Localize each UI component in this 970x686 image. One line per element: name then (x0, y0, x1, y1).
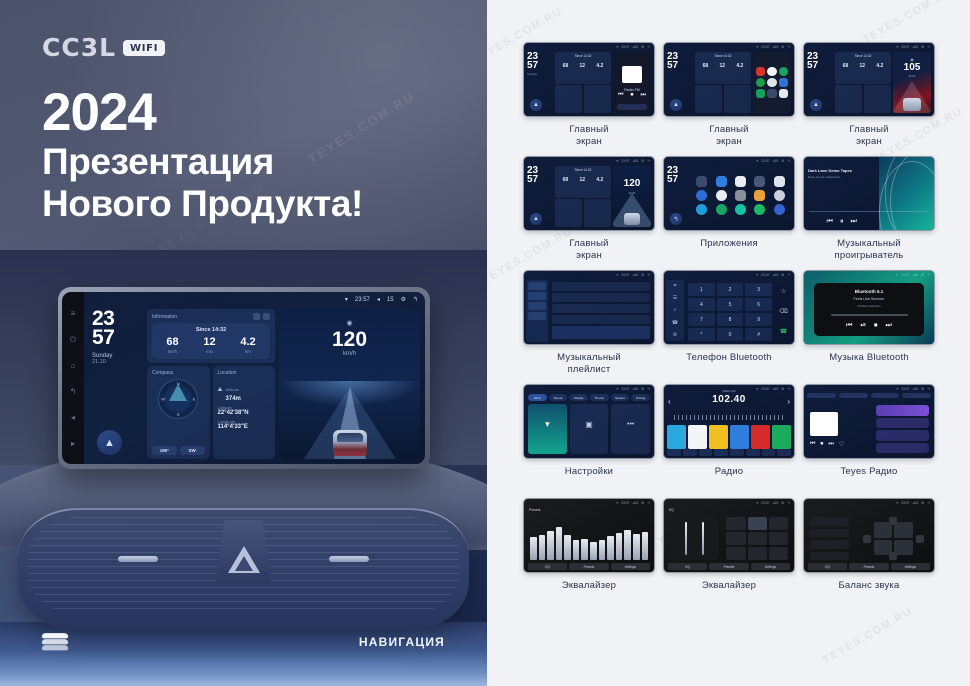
volume-down-key-icon[interactable]: ◂ (69, 413, 78, 422)
stat-unit: km (240, 349, 255, 354)
power-key-icon[interactable]: ⏻ (69, 335, 78, 344)
compass-card[interactable] (695, 85, 722, 113)
home-key-icon[interactable]: ⌂ (69, 361, 78, 370)
next-icon[interactable]: ⏭ (828, 441, 833, 448)
car-window (337, 433, 363, 442)
settings-tab[interactable]: Sound (549, 394, 568, 401)
dial-key[interactable]: 6 (745, 298, 772, 311)
track-row[interactable] (552, 304, 650, 313)
location-title: Location (218, 370, 271, 376)
app-icon[interactable] (754, 190, 765, 201)
latitude-value: 22°42'38"N (218, 410, 271, 416)
app-icon[interactable] (774, 190, 785, 201)
settings-tab[interactable]: Wi-Fi (528, 394, 547, 401)
preset-button[interactable] (748, 547, 767, 560)
eq-slider[interactable] (573, 540, 580, 560)
refresh-icon[interactable] (253, 313, 260, 320)
dial-key[interactable]: 3 (745, 283, 772, 296)
thumbnail-music-player[interactable]: ▾23:57◂15⚙↰ Dark Lane Demo Tapes Deep Ho… (803, 156, 935, 231)
altitude-value: 374m (226, 396, 241, 402)
equalizer-sliders[interactable] (530, 519, 648, 560)
thumbnail-caption: Teyes Радио (840, 466, 897, 490)
toolbar-button[interactable] (714, 449, 728, 456)
preset-station[interactable] (772, 425, 791, 449)
slider[interactable] (685, 522, 687, 555)
radio-toolbar[interactable] (667, 449, 791, 456)
gallery-item[interactable]: ▾23:57◂15⚙↰ 23 57 ↰ (663, 156, 795, 262)
stat-value: 4.2 (240, 337, 255, 348)
navigation-arrow-icon[interactable]: ▲ (810, 99, 822, 111)
clock-column: 23 57 Sunday ▲ (527, 52, 553, 113)
eq-slider[interactable] (539, 535, 546, 560)
thumbnail-sound-balance[interactable]: ▾23:57◂15⚙↰ (803, 498, 935, 573)
speed-value: 105 (893, 62, 931, 73)
settings-tabs[interactable]: Wi-Fi Sound Display Theme System Driving (528, 394, 650, 401)
gallery-item[interactable]: ▾23:57◂15⚙↰ Bluetooth 5.1 Feels Like Sum… (803, 270, 935, 376)
preset-button[interactable] (769, 532, 788, 545)
dial-key[interactable]: * (688, 328, 715, 341)
app-icon[interactable] (735, 190, 746, 201)
wifi-tile[interactable]: ▾ (528, 404, 567, 454)
frequency-scale[interactable] (674, 415, 784, 420)
car-icon: ▣ (585, 420, 593, 429)
app-icon[interactable] (767, 89, 776, 98)
toolbar-button[interactable] (762, 449, 776, 456)
toolbar-button[interactable] (683, 449, 697, 456)
location-card[interactable]: Location ⛰ Altitude 374m Latitude (213, 366, 276, 459)
thumbnail-caption: Телефон Bluetooth (686, 352, 772, 376)
app-icon[interactable] (716, 176, 727, 187)
app-icon[interactable] (754, 204, 765, 215)
station-row[interactable] (876, 430, 929, 441)
preset-grid[interactable] (726, 517, 788, 560)
eq-tab[interactable]: Presets (569, 563, 608, 570)
information-card[interactable]: Since 14:32 68 12 4.2 (555, 166, 611, 198)
thumbnail-caption: Главныйэкран (569, 238, 608, 262)
gallery-item[interactable]: ▾23:57◂15⚙↰ (803, 498, 935, 604)
compass-direction: SW (180, 446, 205, 455)
app-icon[interactable] (779, 67, 788, 76)
radio-tuning-controls[interactable]: ‹ › (668, 397, 790, 406)
gallery-item[interactable]: ▾23:57◂15⚙↰ 23 57 ▲ Since 14:32 68 (663, 42, 795, 148)
phone-sidebar[interactable]: ⌗ ☰ ⌕ ☎ ⚙ (666, 280, 684, 341)
app-icon[interactable] (774, 176, 785, 187)
eq-tab[interactable]: Settings (891, 563, 930, 570)
thumbnail-home-road[interactable]: ▾23:57◂15⚙↰ 23 57 ▲ Since 14:32 68 (523, 156, 655, 231)
app-icon[interactable] (716, 190, 727, 201)
toolbar-button[interactable] (667, 449, 681, 456)
eq-slider[interactable] (581, 539, 588, 560)
favorite-icon[interactable]: ☆ (781, 288, 786, 295)
thumbnail-settings[interactable]: ▾23:57◂15⚙↰ Wi-Fi Sound Display Theme Sy… (523, 384, 655, 459)
previous-icon[interactable]: ⏮ (846, 322, 852, 330)
toolbar-button[interactable] (730, 449, 744, 456)
balance-option[interactable] (810, 540, 849, 549)
app-icon[interactable] (779, 78, 788, 87)
balance-up-button[interactable] (889, 517, 897, 525)
sidebar-item[interactable] (528, 282, 546, 290)
eq-tab[interactable]: EQ (528, 563, 567, 570)
headline-line1: Презентация (42, 141, 363, 182)
compass-title: Compass (152, 370, 205, 376)
call-icon[interactable]: ☎ (780, 328, 787, 335)
eq-tab[interactable]: EQ (808, 563, 847, 570)
preset-station[interactable] (730, 425, 749, 449)
dial-key[interactable]: # (745, 328, 772, 341)
teyes-station-list[interactable] (874, 403, 931, 455)
phone-actions[interactable]: ☆ ⌫ ☎ (775, 281, 792, 341)
preset-station[interactable] (688, 425, 707, 449)
track-row[interactable] (552, 282, 650, 291)
location-card[interactable] (584, 199, 611, 227)
equalizer-tabs[interactable]: EQ Presets Settings (668, 563, 790, 570)
thumbnail-bluetooth-music[interactable]: ▾23:57◂15⚙↰ Bluetooth 5.1 Feels Like Sum… (803, 270, 935, 345)
stat-value: 4.2 (876, 63, 883, 69)
progress-bar[interactable] (809, 211, 929, 213)
app-icon[interactable] (754, 176, 765, 187)
next-icon[interactable]: ⏭ (850, 218, 856, 226)
watermark: TEYES.COM.RU (821, 605, 915, 666)
balance-option[interactable] (810, 529, 849, 538)
preset-button[interactable] (726, 547, 745, 560)
tune-down-icon[interactable]: ‹ (668, 397, 671, 406)
speed-panel[interactable]: 120 km/h (613, 166, 651, 227)
tab[interactable] (807, 393, 836, 398)
dial-key[interactable]: 5 (717, 298, 744, 311)
eq-slider[interactable] (642, 532, 649, 560)
thumbnail-equalizer-presets[interactable]: ▾23:57◂15⚙↰ EQ (663, 498, 795, 573)
eq-tab[interactable]: Presets (849, 563, 888, 570)
gallery-item[interactable]: ▾23:57◂15⚙↰ Wi-Fi Sound Display Theme Sy… (523, 384, 655, 490)
volume-icon: ◂ (377, 296, 380, 303)
track-row[interactable] (552, 315, 650, 324)
search-icon[interactable]: ⌕ (674, 307, 677, 313)
app-icon[interactable] (779, 89, 788, 98)
thumbnail-radio[interactable]: ▾23:57◂15⚙↰ Radio FM 102.40 ‹ › (663, 384, 795, 459)
wifi-icon: ▾ (545, 419, 550, 430)
more-tile[interactable]: ••• (611, 404, 650, 454)
eq-slider[interactable] (599, 540, 606, 561)
volume-up-key-icon[interactable]: ▸ (69, 439, 78, 448)
settings-tab[interactable]: System (611, 394, 630, 401)
information-card[interactable]: Information Since 14:32 68 (147, 309, 275, 363)
eq-slider[interactable] (607, 536, 614, 560)
gallery-item[interactable]: ▾23:57◂15⚙↰ 23 57 ▲ Since 14:32 68 (523, 156, 655, 262)
next-icon[interactable]: ⏭ (886, 322, 892, 330)
settings-icon[interactable]: ⚙ (673, 332, 677, 338)
track-row[interactable] (552, 293, 650, 302)
app-icon[interactable] (696, 190, 707, 201)
app-icon[interactable] (735, 176, 746, 187)
gallery-item[interactable]: ▾23:57◂15⚙↰ 23 57 ▲ Since 14:32 68 (803, 42, 935, 148)
progress-bar[interactable] (831, 314, 908, 316)
eq-tab[interactable]: Presets (709, 563, 748, 570)
information-card[interactable]: Since 14:32 68 12 4.2 (555, 52, 611, 84)
now-playing-bar[interactable] (552, 326, 650, 339)
app-icon[interactable] (756, 89, 765, 98)
radio-band-label: Radio FM (664, 389, 794, 393)
since-label: Since 14:32 (837, 54, 889, 58)
eq-slider[interactable] (616, 533, 623, 560)
expand-icon[interactable] (263, 313, 270, 320)
stats-row: 68 12 4.2 (697, 63, 749, 69)
toolbar-button[interactable] (777, 449, 791, 456)
compass-card[interactable] (555, 199, 582, 227)
gallery-item[interactable]: ▾23:57◂15⚙↰ ⌗ ☰ ⌕ ☎ ⚙ 1 2 3 4 5 6 (663, 270, 795, 376)
app-icon[interactable] (756, 67, 765, 76)
stat-value: 4.2 (596, 177, 603, 183)
settings-tab[interactable]: Display (569, 394, 588, 401)
app-icon[interactable] (767, 67, 776, 76)
settings-tab[interactable]: Theme (590, 394, 609, 401)
contacts-icon[interactable]: ☰ (673, 295, 677, 301)
longitude-row: Longitude 114°4'33"E (218, 419, 271, 430)
backspace-icon[interactable]: ⌫ (779, 308, 787, 315)
equalizer-tabs[interactable]: EQ Presets Settings (808, 563, 930, 570)
playback-controls[interactable]: ⏮ ⏸ ⏭ (804, 218, 879, 226)
app-icon[interactable] (756, 78, 765, 87)
tab[interactable] (902, 393, 931, 398)
dial-key[interactable]: 0 (717, 328, 744, 341)
gallery-item[interactable]: ▾23:57◂15⚙↰ ⏮ ⏹ ⏭ ♡ (803, 384, 935, 490)
call-history-icon[interactable]: ☎ (672, 320, 678, 326)
speaker-grid[interactable] (874, 522, 913, 555)
compass-cone-icon (169, 384, 187, 401)
sidebar-item[interactable] (528, 292, 546, 300)
eq-slider[interactable] (556, 527, 563, 560)
album-art (622, 66, 642, 83)
hazard-triangle-icon (228, 546, 260, 573)
card-actions[interactable] (253, 313, 270, 320)
eq-slider[interactable] (590, 542, 597, 560)
menu-key-icon[interactable]: ≡ (69, 309, 78, 318)
settings-tiles[interactable]: ▾ ▣ ••• (528, 404, 650, 454)
preset-station[interactable] (709, 425, 728, 449)
stat-value: 12 (580, 63, 586, 69)
compass-card[interactable] (555, 85, 582, 113)
track-artist: Childish Gambino (857, 304, 881, 308)
gallery-item[interactable]: ▾23:57◂15⚙↰ Radio FM 102.40 ‹ › (663, 384, 795, 490)
eq-tab[interactable]: Settings (751, 563, 790, 570)
balance-sliders[interactable] (670, 517, 719, 560)
previous-icon[interactable]: ⏮ (810, 441, 815, 448)
stats-row: 68 km/h 12 min 4.2 km (154, 337, 268, 354)
toolbar-button[interactable] (699, 449, 713, 456)
track-title: Feels Like Summer (854, 297, 885, 301)
status-bar: ▾23:57◂15⚙↰ (804, 43, 934, 50)
gallery-item[interactable]: ▾23:57◂15⚙↰ (523, 270, 655, 376)
play-pause-icon[interactable]: ⏯ (860, 322, 866, 330)
compass-card[interactable]: Compass N E S W 180° S (147, 366, 210, 459)
altitude-row: ⛰ Altitude 374m (218, 378, 271, 402)
hazard-light-button[interactable] (216, 520, 272, 584)
app-drawer-grid[interactable] (690, 164, 791, 227)
app-icon[interactable] (735, 204, 746, 215)
balance-pad[interactable] (863, 517, 925, 560)
speed-panel[interactable]: ◉ 120 km/h (279, 309, 420, 459)
eq-tab[interactable]: Settings (611, 563, 650, 570)
clock-column: 23 57 ▲ (667, 52, 693, 113)
toolbar-button[interactable] (746, 449, 760, 456)
slider[interactable] (702, 522, 704, 555)
thumbnail-home-red[interactable]: ▾23:57◂15⚙↰ 23 57 ▲ Since 14:32 68 (803, 42, 935, 117)
navigation-arrow-icon[interactable]: ▲ (530, 99, 542, 111)
since-label: Since 14:32 (557, 168, 609, 172)
dial-key[interactable]: 4 (688, 298, 715, 311)
preset-button[interactable] (769, 547, 788, 560)
equalizer-tabs[interactable]: EQ Presets Settings (528, 563, 650, 570)
stat-item: 4.2 km (240, 337, 255, 354)
dial-key[interactable]: 1 (688, 283, 715, 296)
eq-slider[interactable] (633, 534, 640, 560)
eq-slider[interactable] (547, 531, 554, 560)
favorite-icon[interactable]: ♡ (839, 441, 844, 448)
tab[interactable] (839, 393, 868, 398)
thumbnail-home-apps[interactable]: ▾23:57◂15⚙↰ 23 57 ▲ Since 14:32 68 (663, 42, 795, 117)
thumbnail-teyes-radio[interactable]: ▾23:57◂15⚙↰ ⏮ ⏹ ⏭ ♡ (803, 384, 935, 459)
information-card[interactable]: Since 14:32 68 12 4.2 (835, 52, 891, 84)
watermark: TEYES.COM.RU (861, 0, 955, 47)
station-row[interactable] (876, 405, 929, 416)
previous-icon[interactable]: ⏮ (827, 218, 833, 226)
dial-key[interactable]: 9 (745, 313, 772, 326)
screen-body: 23 57 Sunday 21.10 ▲ Information (84, 307, 425, 464)
speaker-front-right[interactable] (894, 522, 913, 537)
thumbnail-home-media[interactable]: ▾23:57◂15⚙↰ 23 57 Sunday ▲ Since 14:32 (523, 42, 655, 117)
dial-key[interactable]: 2 (717, 283, 744, 296)
station-row[interactable] (876, 443, 929, 454)
dial-key[interactable]: 7 (688, 313, 715, 326)
dial-key[interactable]: 8 (717, 313, 744, 326)
preset-station-tiles[interactable] (667, 425, 791, 449)
tune-up-icon[interactable]: › (787, 397, 790, 406)
back-icon[interactable]: ↰ (413, 296, 418, 303)
playback-controls[interactable]: ⏮ ⏯ ⏹ ⏭ (846, 322, 892, 330)
status-volume: 15 (387, 297, 394, 303)
app-shortcut-grid[interactable] (753, 52, 791, 113)
balance-right-button[interactable] (916, 535, 924, 543)
vent-knob-left[interactable] (118, 556, 158, 562)
preset-button[interactable] (748, 517, 767, 530)
gallery-item[interactable]: ▾23:57◂15⚙↰ Presets (523, 498, 655, 604)
navigation-arrow-icon[interactable]: ▲ (97, 430, 122, 455)
balance-option[interactable] (810, 552, 849, 561)
playback-controls[interactable]: ⏮ ⏹ ⏭ ♡ (810, 441, 872, 448)
gear-icon[interactable]: ⚙ (401, 296, 406, 303)
stop-icon[interactable]: ⏹ (820, 441, 823, 448)
balance-down-button[interactable] (889, 552, 897, 560)
bluetooth-media-card: Bluetooth 5.1 Feels Like Summer Childish… (814, 283, 924, 336)
brand-logo: CC3L WIFI (42, 33, 165, 62)
navigation-arrow-icon[interactable]: ▲ (530, 213, 542, 225)
dialpad[interactable]: 1 2 3 4 5 6 7 8 9 * 0 # (688, 283, 772, 341)
balance-option[interactable] (810, 517, 849, 526)
preset-button[interactable] (769, 517, 788, 530)
location-card[interactable] (724, 85, 751, 113)
preset-button[interactable] (726, 517, 745, 530)
back-key-icon[interactable]: ↰ (69, 387, 78, 396)
stats-row: 68 12 4.2 (837, 63, 889, 69)
thumbnail-apps[interactable]: ▾23:57◂15⚙↰ 23 57 ↰ (663, 156, 795, 231)
app-icon[interactable] (716, 204, 727, 215)
gallery-item[interactable]: ▾23:57◂15⚙↰ Dark Lane Demo Tapes Deep Ho… (803, 156, 935, 262)
eq-slider[interactable] (624, 530, 631, 560)
location-card[interactable] (584, 85, 611, 113)
status-bar: ▾23:57◂15⚙↰ (804, 385, 934, 392)
thumbnail-playlist[interactable]: ▾23:57◂15⚙↰ (523, 270, 655, 345)
preset-station[interactable] (751, 425, 770, 449)
media-bottom-bar[interactable] (617, 104, 647, 110)
compass-south: S (177, 412, 180, 417)
app-icon[interactable] (774, 204, 785, 215)
eq-tab[interactable]: EQ (668, 563, 707, 570)
app-icon[interactable] (696, 176, 707, 187)
compass-card[interactable] (835, 85, 862, 113)
gallery-item[interactable]: ▾23:57◂15⚙↰ EQ (663, 498, 795, 604)
playlist-sidebar[interactable] (526, 280, 548, 342)
eq-slider[interactable] (564, 535, 571, 560)
station-row[interactable] (876, 418, 929, 429)
teyes-radio-tabs[interactable] (807, 393, 931, 398)
navigation-arrow-icon[interactable]: ▲ (670, 99, 682, 111)
information-stats-box: Since 14:32 68 km/h 12 min (152, 323, 270, 359)
track-title: Dark Lane Demo Tapes (808, 168, 875, 173)
settings-tab[interactable]: Driving (631, 394, 650, 401)
information-title: Information (152, 314, 177, 320)
gallery-item[interactable]: ▾23:57◂15⚙↰ 23 57 Sunday ▲ Since 14:32 (523, 42, 655, 148)
status-bar: ▾ 23:57 ◂ 15 ⚙ ↰ (84, 292, 425, 307)
back-icon[interactable]: ↰ (670, 213, 682, 225)
preset-button[interactable] (726, 532, 745, 545)
pause-icon[interactable]: ⏸ (840, 218, 844, 226)
vent-knob-right[interactable] (329, 556, 369, 562)
thumbnail-bluetooth-phone[interactable]: ▾23:57◂15⚙↰ ⌗ ☰ ⌕ ☎ ⚙ 1 2 3 4 5 6 (663, 270, 795, 345)
head-unit-screen[interactable]: ▾ 23:57 ◂ 15 ⚙ ↰ 23 57 Sunday 21.10 ▲ (84, 292, 425, 464)
app-icon[interactable] (767, 78, 776, 87)
headline-line2: Нового Продукта! (42, 183, 363, 224)
thumbnail-caption: Музыкальныйплейлист (557, 352, 621, 376)
eq-slider[interactable] (530, 537, 537, 560)
stop-icon[interactable]: ⏹ (874, 322, 878, 330)
latitude-row: Latitude 22°42'38"N (218, 405, 271, 416)
status-bar: ▾23:57◂15⚙↰ (664, 43, 794, 50)
more-icon: ••• (627, 421, 634, 428)
car-graphic (624, 213, 640, 225)
speed-unit: km/h (893, 74, 931, 78)
speed-panel[interactable]: ◉ 105 km/h (893, 52, 931, 113)
carplay-tile[interactable]: ▣ (570, 404, 609, 454)
preset-button[interactable] (748, 532, 767, 545)
album-art (810, 412, 838, 436)
compass-west: W (161, 397, 165, 402)
balance-left-button[interactable] (863, 535, 871, 543)
tab[interactable] (871, 393, 900, 398)
head-unit-key-rail[interactable]: ≡ ⏻ ⌂ ↰ ◂ ▸ (62, 292, 84, 464)
sidebar-item[interactable] (528, 312, 546, 320)
playlist-track-list[interactable] (550, 280, 652, 342)
balance-option-list[interactable] (810, 517, 849, 560)
media-widget[interactable]: Radio FM ⏮⏹⏭ (613, 52, 651, 113)
thumbnail-equalizer-bars[interactable]: ▾23:57◂15⚙↰ Presets (523, 498, 655, 573)
sidebar-item[interactable] (528, 302, 546, 310)
information-card[interactable]: Since 14:32 68 12 4.2 (695, 52, 751, 84)
location-card[interactable] (864, 85, 891, 113)
compass-bearing: 180° (152, 446, 177, 455)
dialpad-icon[interactable]: ⌗ (674, 283, 677, 289)
preset-station[interactable] (667, 425, 686, 449)
app-icon[interactable] (696, 204, 707, 215)
media-controls[interactable]: ⏮⏹⏭ (613, 92, 651, 99)
